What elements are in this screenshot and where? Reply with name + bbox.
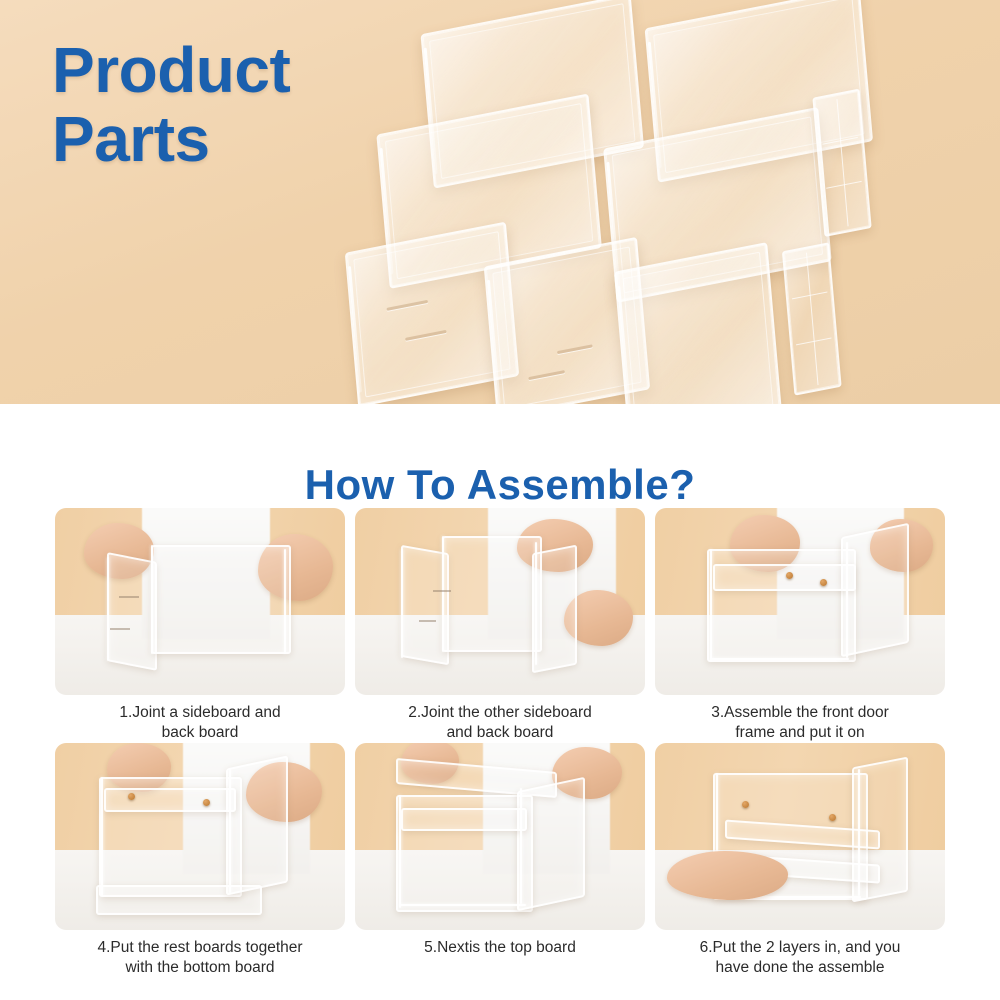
front-door-frame [104,788,236,813]
step-photo-2 [355,508,645,695]
assembly-step: 4.Put the rest boards together with the … [55,743,345,973]
hero-section: Product Parts [0,0,1000,404]
side-panel [226,755,288,896]
step-caption: 6.Put the 2 layers in, and you have done… [655,938,945,979]
assembly-step: 3.Assemble the front door frame and put … [655,508,945,738]
step-caption: 1.Joint a sideboard and back board [55,703,345,744]
hand [667,851,789,900]
assembly-step: 1.Joint a sideboard and back board [55,508,345,738]
knob [786,572,793,579]
step-photo-6 [655,743,945,930]
assembly-step: 5.Nextis the top board [355,743,645,973]
step-caption: 5.Nextis the top board [355,938,645,958]
step-photo-1 [55,508,345,695]
divider-strip [782,242,842,395]
panel-slot [387,300,428,311]
panel-slot [557,344,593,354]
back-board-panel [442,536,542,652]
assembly-step: 6.Put the 2 layers in, and you have done… [655,743,945,973]
how-to-assemble-section: How To Assemble? 1.Joint a sideboard and… [0,404,1000,1000]
acrylic-panel [614,242,782,404]
side-panel [517,777,585,911]
second-sideboard-panel [532,545,577,674]
step-photo-3 [655,508,945,695]
front-door-frame [713,564,856,590]
product-parts-photo [316,0,1000,404]
knob [829,814,836,821]
step-photo-4 [55,743,345,930]
step-caption: 4.Put the rest boards together with the … [55,938,345,979]
panel-slot [405,330,446,341]
assembly-step: 2.Joint the other sideboard and back boa… [355,508,645,738]
panel-slot [529,370,565,380]
front-door-frame [401,808,527,831]
back-board-panel [151,545,291,654]
bottom-board [96,885,262,915]
step-caption: 3.Assemble the front door frame and put … [655,703,945,744]
step-photo-5 [355,743,645,930]
section-heading: How To Assemble? [0,461,1000,509]
knob [742,801,749,808]
assembly-steps-grid: 1.Joint a sideboard and back board 2.Joi… [55,508,945,973]
knob [203,799,210,806]
page-title: Product Parts [52,36,290,174]
step-caption: 2.Joint the other sideboard and back boa… [355,703,645,744]
